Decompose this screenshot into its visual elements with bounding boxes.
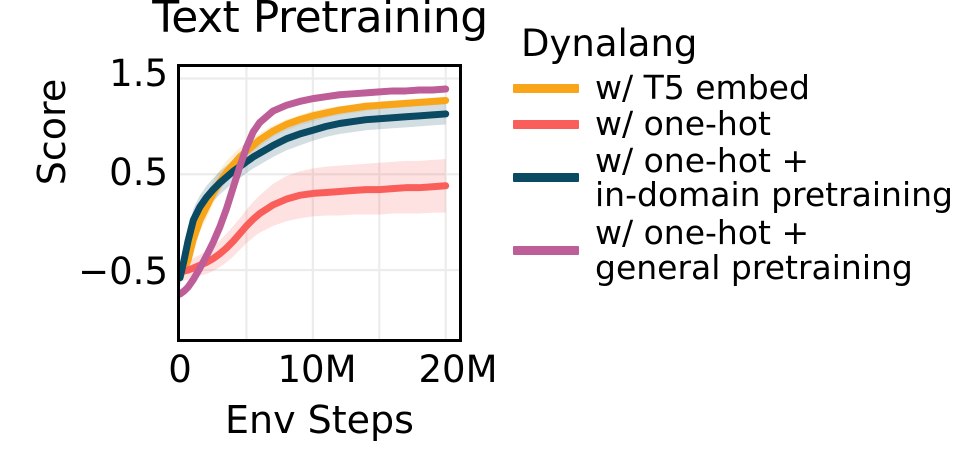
legend-item[interactable]: w/ one-hot + in-domain pretraining (513, 144, 964, 213)
legend-swatch-icon (513, 84, 579, 93)
legend-swatch-icon (513, 120, 579, 129)
legend-item-label: w/ one-hot (595, 107, 771, 141)
legend: Dynalang w/ T5 embedw/ one-hotw/ one-hot… (513, 22, 964, 289)
legend-item[interactable]: w/ one-hot (513, 107, 964, 141)
plot-area (177, 64, 462, 342)
legend-swatch-icon (513, 246, 579, 255)
y-tick-label-2: 0.5 (8, 151, 168, 194)
legend-item-label: w/ T5 embed (595, 71, 810, 105)
y-axis-ticks: 1.5 0.5 −0.5 (0, 0, 168, 458)
y-tick-label-3: −0.5 (8, 250, 168, 293)
x-tick-label-2: 10M (277, 348, 356, 391)
legend-entries: w/ T5 embedw/ one-hotw/ one-hot + in-dom… (513, 71, 964, 285)
x-tick-label-1: 0 (168, 348, 192, 391)
legend-swatch-icon (513, 173, 579, 182)
legend-item-label: w/ one-hot + general pretraining (595, 216, 913, 285)
legend-item[interactable]: w/ T5 embed (513, 71, 964, 105)
legend-title: Dynalang (521, 22, 964, 65)
y-tick-label-1: 1.5 (8, 52, 168, 95)
chart-title: Text Pretraining (110, 0, 530, 43)
legend-item-label: w/ one-hot + in-domain pretraining (595, 144, 953, 213)
x-tick-label-3: 20M (418, 348, 497, 391)
legend-item[interactable]: w/ one-hot + general pretraining (513, 216, 964, 285)
chart-canvas (180, 67, 459, 339)
x-axis-label: Env Steps (177, 398, 462, 442)
